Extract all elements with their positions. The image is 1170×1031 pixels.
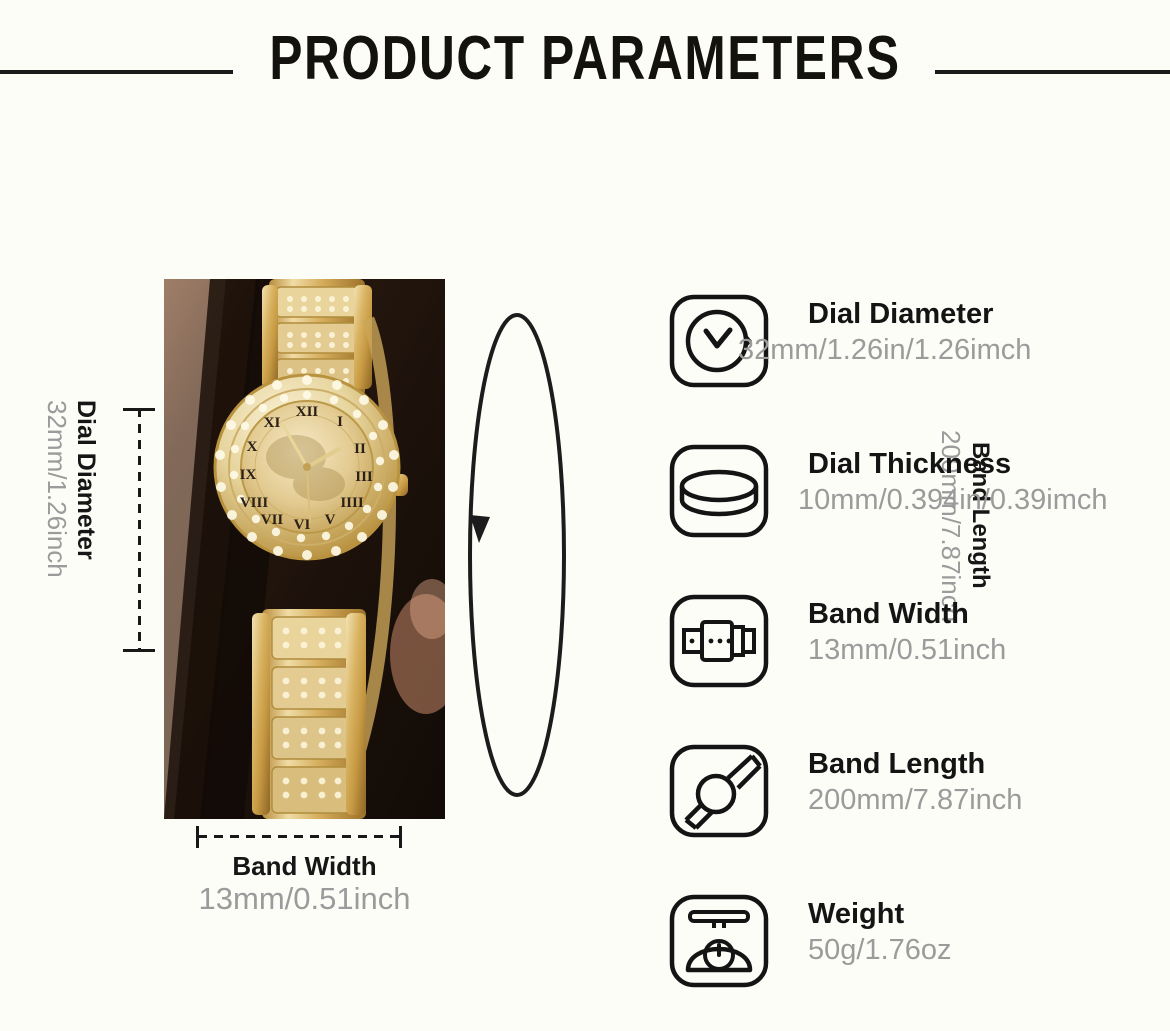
spec-row-dial-diameter: Dial Diameter 32mm/1.26in/1.26imch <box>668 288 1138 438</box>
watch-photo-illustration: XII I II III IIII V VI VII VIII IX X XI <box>164 279 445 819</box>
spec-label-band-width: Band Width <box>808 596 1170 632</box>
spec-label-dial-thickness: Dial Thickness <box>808 446 1170 482</box>
svg-text:II: II <box>354 441 366 457</box>
dimension-dashed-line <box>198 835 400 838</box>
svg-text:IX: IX <box>240 467 257 483</box>
spec-value-dial-diameter: 32mm/1.26in/1.26imch <box>738 332 1170 368</box>
svg-text:VIII: VIII <box>240 495 269 511</box>
band-length-loop-arrow <box>452 305 582 805</box>
svg-text:VI: VI <box>294 517 311 533</box>
dimension-cap-bottom <box>123 649 155 652</box>
svg-text:I: I <box>337 414 343 430</box>
band-width-annotation-value: 13mm/0.51inch <box>164 882 445 916</box>
spec-row-dial-thickness: Dial Thickness 10mm/0.394in/0.39imch <box>668 438 1138 588</box>
spec-row-band-width: Band Width 13mm/0.51inch <box>668 588 1138 738</box>
svg-text:V: V <box>325 512 336 528</box>
spec-value-band-width: 13mm/0.51inch <box>808 632 1170 668</box>
svg-text:XI: XI <box>264 415 281 431</box>
spec-text-dial-diameter: Dial Diameter 32mm/1.26in/1.26imch <box>808 296 1170 369</box>
spec-list: Dial Diameter 32mm/1.26in/1.26imch Dial … <box>668 288 1138 1031</box>
spec-value-weight: 50g/1.76oz <box>808 932 1170 968</box>
spec-label-dial-diameter: Dial Diameter <box>808 296 1170 332</box>
spec-row-band-length: Band Length 200mm/7.87inch <box>668 738 1138 888</box>
spec-text-weight: Weight 50g/1.76oz <box>808 896 1170 969</box>
header-rule-right <box>935 70 1170 74</box>
spec-text-band-width: Band Width 13mm/0.51inch <box>808 596 1170 669</box>
page-title: PRODUCT PARAMETERS <box>117 28 1053 90</box>
spec-text-dial-thickness: Dial Thickness 10mm/0.394in/0.39imch <box>808 446 1170 519</box>
dial-diameter-annotation-value: 32mm/1.26inch <box>44 400 70 578</box>
band-width-annotation-label: Band Width <box>164 852 445 881</box>
spec-label-band-length: Band Length <box>808 746 1170 782</box>
dial-diameter-annotation-label: Dial Diameter <box>73 400 98 560</box>
watch-strap-diagonal-icon <box>668 744 770 838</box>
spec-label-weight: Weight <box>808 896 1170 932</box>
dial-diameter-annotation-labels: Dial Diameter 32mm/1.26inch <box>40 400 110 662</box>
svg-text:VII: VII <box>261 512 284 528</box>
kitchen-scale-icon <box>668 894 770 988</box>
svg-text:XII: XII <box>296 404 319 420</box>
product-parameters-page: PRODUCT PARAMETERS <box>0 0 1170 1031</box>
spec-value-band-length: 200mm/7.87inch <box>808 782 1170 818</box>
spec-value-dial-thickness: 10mm/0.394in/0.39imch <box>798 482 1170 518</box>
svg-text:IIII: IIII <box>340 495 364 511</box>
svg-text:III: III <box>355 469 373 485</box>
svg-text:X: X <box>247 439 258 455</box>
watch-band-buckle-icon <box>668 594 770 688</box>
disc-thickness-icon <box>668 444 770 538</box>
page-header: PRODUCT PARAMETERS <box>0 0 1170 140</box>
dimension-dashed-line <box>138 408 141 652</box>
product-photo: XII I II III IIII V VI VII VIII IX X XI <box>164 279 445 819</box>
dimension-cap-right <box>399 826 402 848</box>
spec-text-band-length: Band Length 200mm/7.87inch <box>808 746 1170 819</box>
band-width-dimension-line <box>196 826 402 848</box>
dial-diameter-dimension-line <box>108 400 158 662</box>
spec-row-weight: Weight 50g/1.76oz <box>668 888 1138 1031</box>
